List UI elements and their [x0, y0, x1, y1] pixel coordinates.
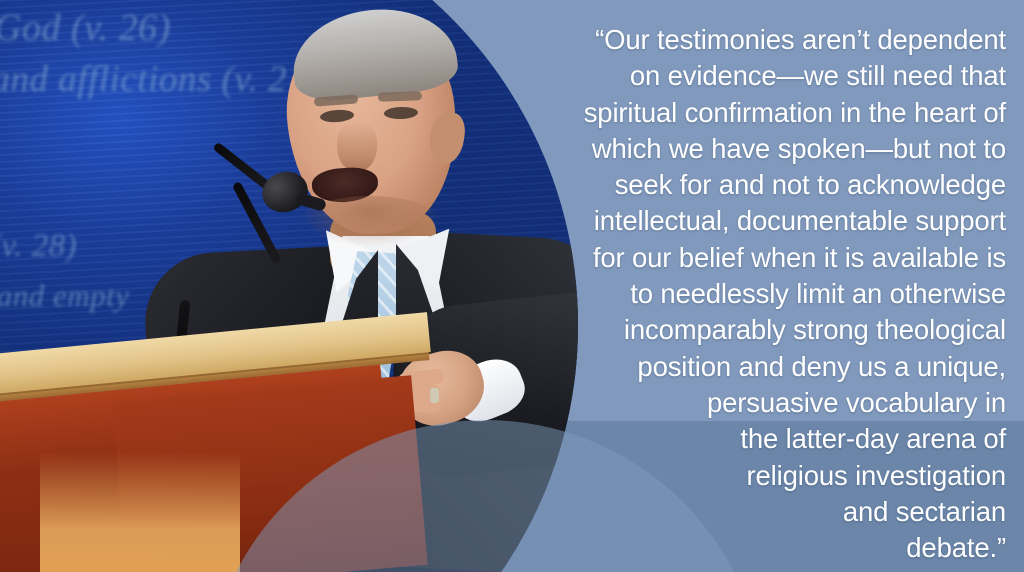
quote-line: debate.” — [556, 530, 1006, 566]
ring — [430, 388, 439, 403]
quote-line: persuasive vocabulary in — [556, 385, 1006, 421]
quote-line: position and deny us a unique, — [556, 349, 1006, 385]
quote-line: intellectual, documentable support — [556, 203, 1006, 239]
quote-line: the latter-day arena of — [556, 421, 1006, 457]
podium-highlight — [40, 452, 240, 572]
speaker-photo: God (v. 26) , and afflictions (v. 2 (v. … — [0, 0, 578, 572]
quote-slide: God (v. 26) , and afflictions (v. 2 (v. … — [0, 0, 1024, 572]
speaker-photo-circle: God (v. 26) , and afflictions (v. 2 (v. … — [0, 0, 578, 572]
nose — [337, 122, 377, 172]
quote-line: for our belief when it is available is — [556, 240, 1006, 276]
quote-line: spiritual confirmation in the heart of — [556, 95, 1006, 131]
quote-text: “Our testimonies aren’t dependent on evi… — [556, 22, 1006, 566]
quote-line: to needlessly limit an otherwise — [556, 276, 1006, 312]
quote-line: “Our testimonies aren’t dependent — [556, 22, 1006, 58]
speaker-figure — [0, 0, 578, 572]
quote-line: religious investigation — [556, 458, 1006, 494]
eyebrow-right — [378, 91, 422, 102]
quote-line: seek for and not to acknowledge — [556, 167, 1006, 203]
quote-line: and sectarian — [556, 494, 1006, 530]
quote-line: which we have spoken—but not to — [556, 131, 1006, 167]
quote-line: incomparably strong theological — [556, 312, 1006, 348]
quote-line: on evidence—we still need that — [556, 58, 1006, 94]
